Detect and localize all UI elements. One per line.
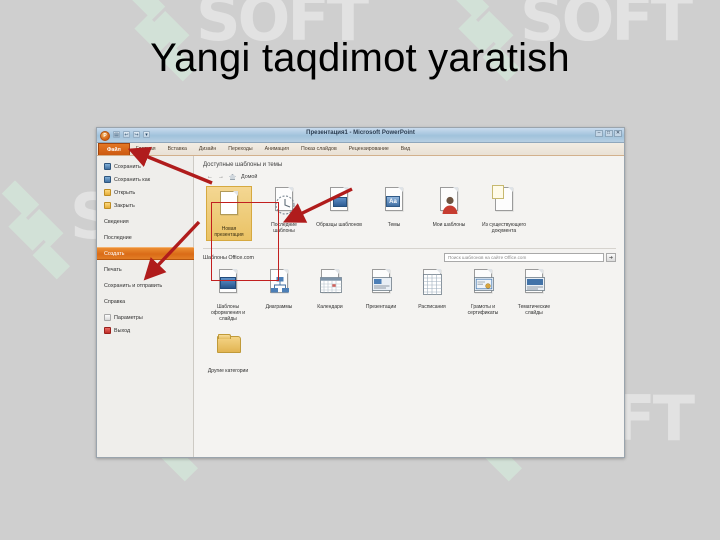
slide-canvas: SOFT SOFT SOFT SOFT SOFT SOFT xyxy=(0,0,720,540)
tab-home[interactable]: Главная xyxy=(130,143,162,155)
maximize-icon[interactable]: □ xyxy=(605,130,613,137)
ribbon-tabbar[interactable]: Файл Главная Вставка Дизайн Переходы Ани… xyxy=(97,143,624,156)
tile-label: Новая презентация xyxy=(207,226,251,238)
tab-file[interactable]: Файл xyxy=(98,143,130,155)
menu-item-label: Печать xyxy=(104,267,122,273)
backstage-view: Сохранить Сохранить как Открыть Закрыть … xyxy=(97,156,624,458)
window-titlebar: P ▤ ↩ ↪ ▾ Презентация1 - Microsoft Power… xyxy=(97,128,624,143)
tile-label: Темы xyxy=(371,222,417,228)
menu-item-label: Последние xyxy=(104,235,132,241)
templates-row-3: Другие категории xyxy=(203,332,616,374)
tile-certificates[interactable]: Грамоты и сертификаты xyxy=(461,268,505,322)
menu-item-exit[interactable]: Выход xyxy=(97,324,193,337)
tile-label: Мои шаблоны xyxy=(426,222,472,228)
tile-label: Расписания xyxy=(410,304,454,310)
tab-design[interactable]: Дизайн xyxy=(193,143,222,155)
close-folder-icon xyxy=(104,202,111,209)
watermark-logo xyxy=(0,176,92,291)
existing-document-icon xyxy=(489,186,519,220)
open-folder-icon xyxy=(104,189,111,196)
schedules-icon xyxy=(417,268,447,302)
office-com-search[interactable]: Поиск шаблонов на сайте Office.com ➜ xyxy=(444,253,616,262)
tile-presentations[interactable]: Презентации xyxy=(359,268,403,322)
menu-item-open[interactable]: Открыть xyxy=(97,186,193,199)
tile-my-templates[interactable]: Мои шаблоны xyxy=(426,186,472,241)
menu-item-label: Сведения xyxy=(104,219,129,225)
window-title: Презентация1 - Microsoft PowerPoint xyxy=(97,130,624,136)
recent-clock-icon xyxy=(269,186,299,220)
menu-item-close[interactable]: Закрыть xyxy=(97,199,193,212)
tile-from-existing-document[interactable]: Из существующего документа xyxy=(481,186,527,241)
tile-label: Шаблоны оформления и слайды xyxy=(206,304,250,322)
breadcrumb-home[interactable]: Домой xyxy=(241,174,257,180)
menu-item-recent[interactable]: Последние xyxy=(97,231,193,244)
tab-transitions[interactable]: Переходы xyxy=(222,143,258,155)
menu-item-label: Открыть xyxy=(114,190,135,196)
search-go-icon[interactable]: ➜ xyxy=(606,253,616,262)
tile-design-slides[interactable]: Шаблоны оформления и слайды xyxy=(206,268,250,322)
tab-animations[interactable]: Анимация xyxy=(259,143,295,155)
folder-icon xyxy=(213,332,243,366)
tile-new-presentation[interactable]: Новая презентация xyxy=(206,186,252,241)
menu-item-info[interactable]: Сведения xyxy=(97,215,193,228)
menu-item-print[interactable]: Печать xyxy=(97,263,193,276)
office-com-section: Шаблоны Office.com Поиск шаблонов на сай… xyxy=(203,248,616,262)
tile-label: Тематические слайды xyxy=(512,304,556,316)
menu-item-label: Выход xyxy=(114,328,130,334)
tile-calendars[interactable]: Календари xyxy=(308,268,352,322)
menu-item-new[interactable]: Создать xyxy=(97,247,197,260)
tile-label: Календари xyxy=(308,304,352,310)
templates-row-1: Новая презентация Последние шаблоны xyxy=(203,186,616,241)
close-icon[interactable]: ✕ xyxy=(614,130,622,137)
tile-sample-templates[interactable]: Образцы шаблонов xyxy=(316,186,362,241)
pane-heading: Доступные шаблоны и темы xyxy=(203,162,616,168)
menu-item-save-as[interactable]: Сохранить как xyxy=(97,173,193,186)
menu-item-label: Параметры xyxy=(114,315,143,321)
themes-aa-icon: Aa xyxy=(379,186,409,220)
menu-item-save[interactable]: Сохранить xyxy=(97,160,193,173)
tab-insert[interactable]: Вставка xyxy=(162,143,193,155)
tile-label: Последние шаблоны xyxy=(261,222,307,234)
blank-document-icon xyxy=(214,190,244,224)
tile-label: Презентации xyxy=(359,304,403,310)
tile-label: Другие категории xyxy=(206,368,250,374)
design-slides-icon xyxy=(213,268,243,302)
sample-templates-icon xyxy=(324,186,354,220)
tile-other-categories[interactable]: Другие категории xyxy=(206,332,250,374)
menu-item-label: Закрыть xyxy=(114,203,135,209)
certificates-icon xyxy=(468,268,498,302)
menu-item-label: Сохранить как xyxy=(114,177,150,183)
themed-slides-icon xyxy=(519,268,549,302)
search-input[interactable]: Поиск шаблонов на сайте Office.com xyxy=(444,253,604,262)
nav-forward-icon[interactable]: → xyxy=(218,174,224,180)
save-as-icon xyxy=(104,176,111,183)
pane-navigation[interactable]: ← → Домой xyxy=(203,174,616,180)
tile-schedules[interactable]: Расписания xyxy=(410,268,454,322)
nav-back-icon[interactable]: ← xyxy=(207,174,213,180)
templates-row-2: Шаблоны оформления и слайды xyxy=(203,268,616,322)
tab-view[interactable]: Вид xyxy=(395,143,416,155)
menu-item-label: Сохранить и отправить xyxy=(104,283,162,289)
tile-diagrams[interactable]: Диаграммы xyxy=(257,268,301,322)
tile-label: Образцы шаблонов xyxy=(316,222,362,228)
diagrams-icon xyxy=(264,268,294,302)
calendar-icon xyxy=(315,268,345,302)
tile-label: Из существующего документа xyxy=(481,222,527,234)
home-icon[interactable] xyxy=(229,174,236,180)
options-icon xyxy=(104,314,111,321)
save-icon xyxy=(104,163,111,170)
menu-item-label: Справка xyxy=(104,299,125,305)
office-com-label: Шаблоны Office.com xyxy=(203,255,254,261)
menu-item-save-and-send[interactable]: Сохранить и отправить xyxy=(97,279,193,292)
templates-pane: Доступные шаблоны и темы ← → Домой xyxy=(194,156,624,458)
window-controls[interactable]: – □ ✕ xyxy=(595,130,622,137)
menu-item-label: Сохранить xyxy=(114,164,141,170)
menu-item-label: Создать xyxy=(104,251,125,257)
my-templates-person-icon xyxy=(434,186,464,220)
menu-item-help[interactable]: Справка xyxy=(97,295,193,308)
tile-themed-slides[interactable]: Тематические слайды xyxy=(512,268,556,322)
menu-item-options[interactable]: Параметры xyxy=(97,311,193,324)
page-title: Yangi taqdimot yaratish xyxy=(0,36,720,81)
tile-label: Диаграммы xyxy=(257,304,301,310)
minimize-icon[interactable]: – xyxy=(595,130,603,137)
tile-recent-templates[interactable]: Последние шаблоны xyxy=(261,186,307,241)
tile-label: Грамоты и сертификаты xyxy=(461,304,505,316)
powerpoint-screenshot: P ▤ ↩ ↪ ▾ Презентация1 - Microsoft Power… xyxy=(96,127,625,458)
tab-review[interactable]: Рецензирование xyxy=(343,143,395,155)
tile-themes[interactable]: Aa Темы xyxy=(371,186,417,241)
presentations-icon xyxy=(366,268,396,302)
backstage-menu[interactable]: Сохранить Сохранить как Открыть Закрыть … xyxy=(97,156,194,458)
tab-slideshow[interactable]: Показ слайдов xyxy=(295,143,343,155)
exit-icon xyxy=(104,327,111,334)
